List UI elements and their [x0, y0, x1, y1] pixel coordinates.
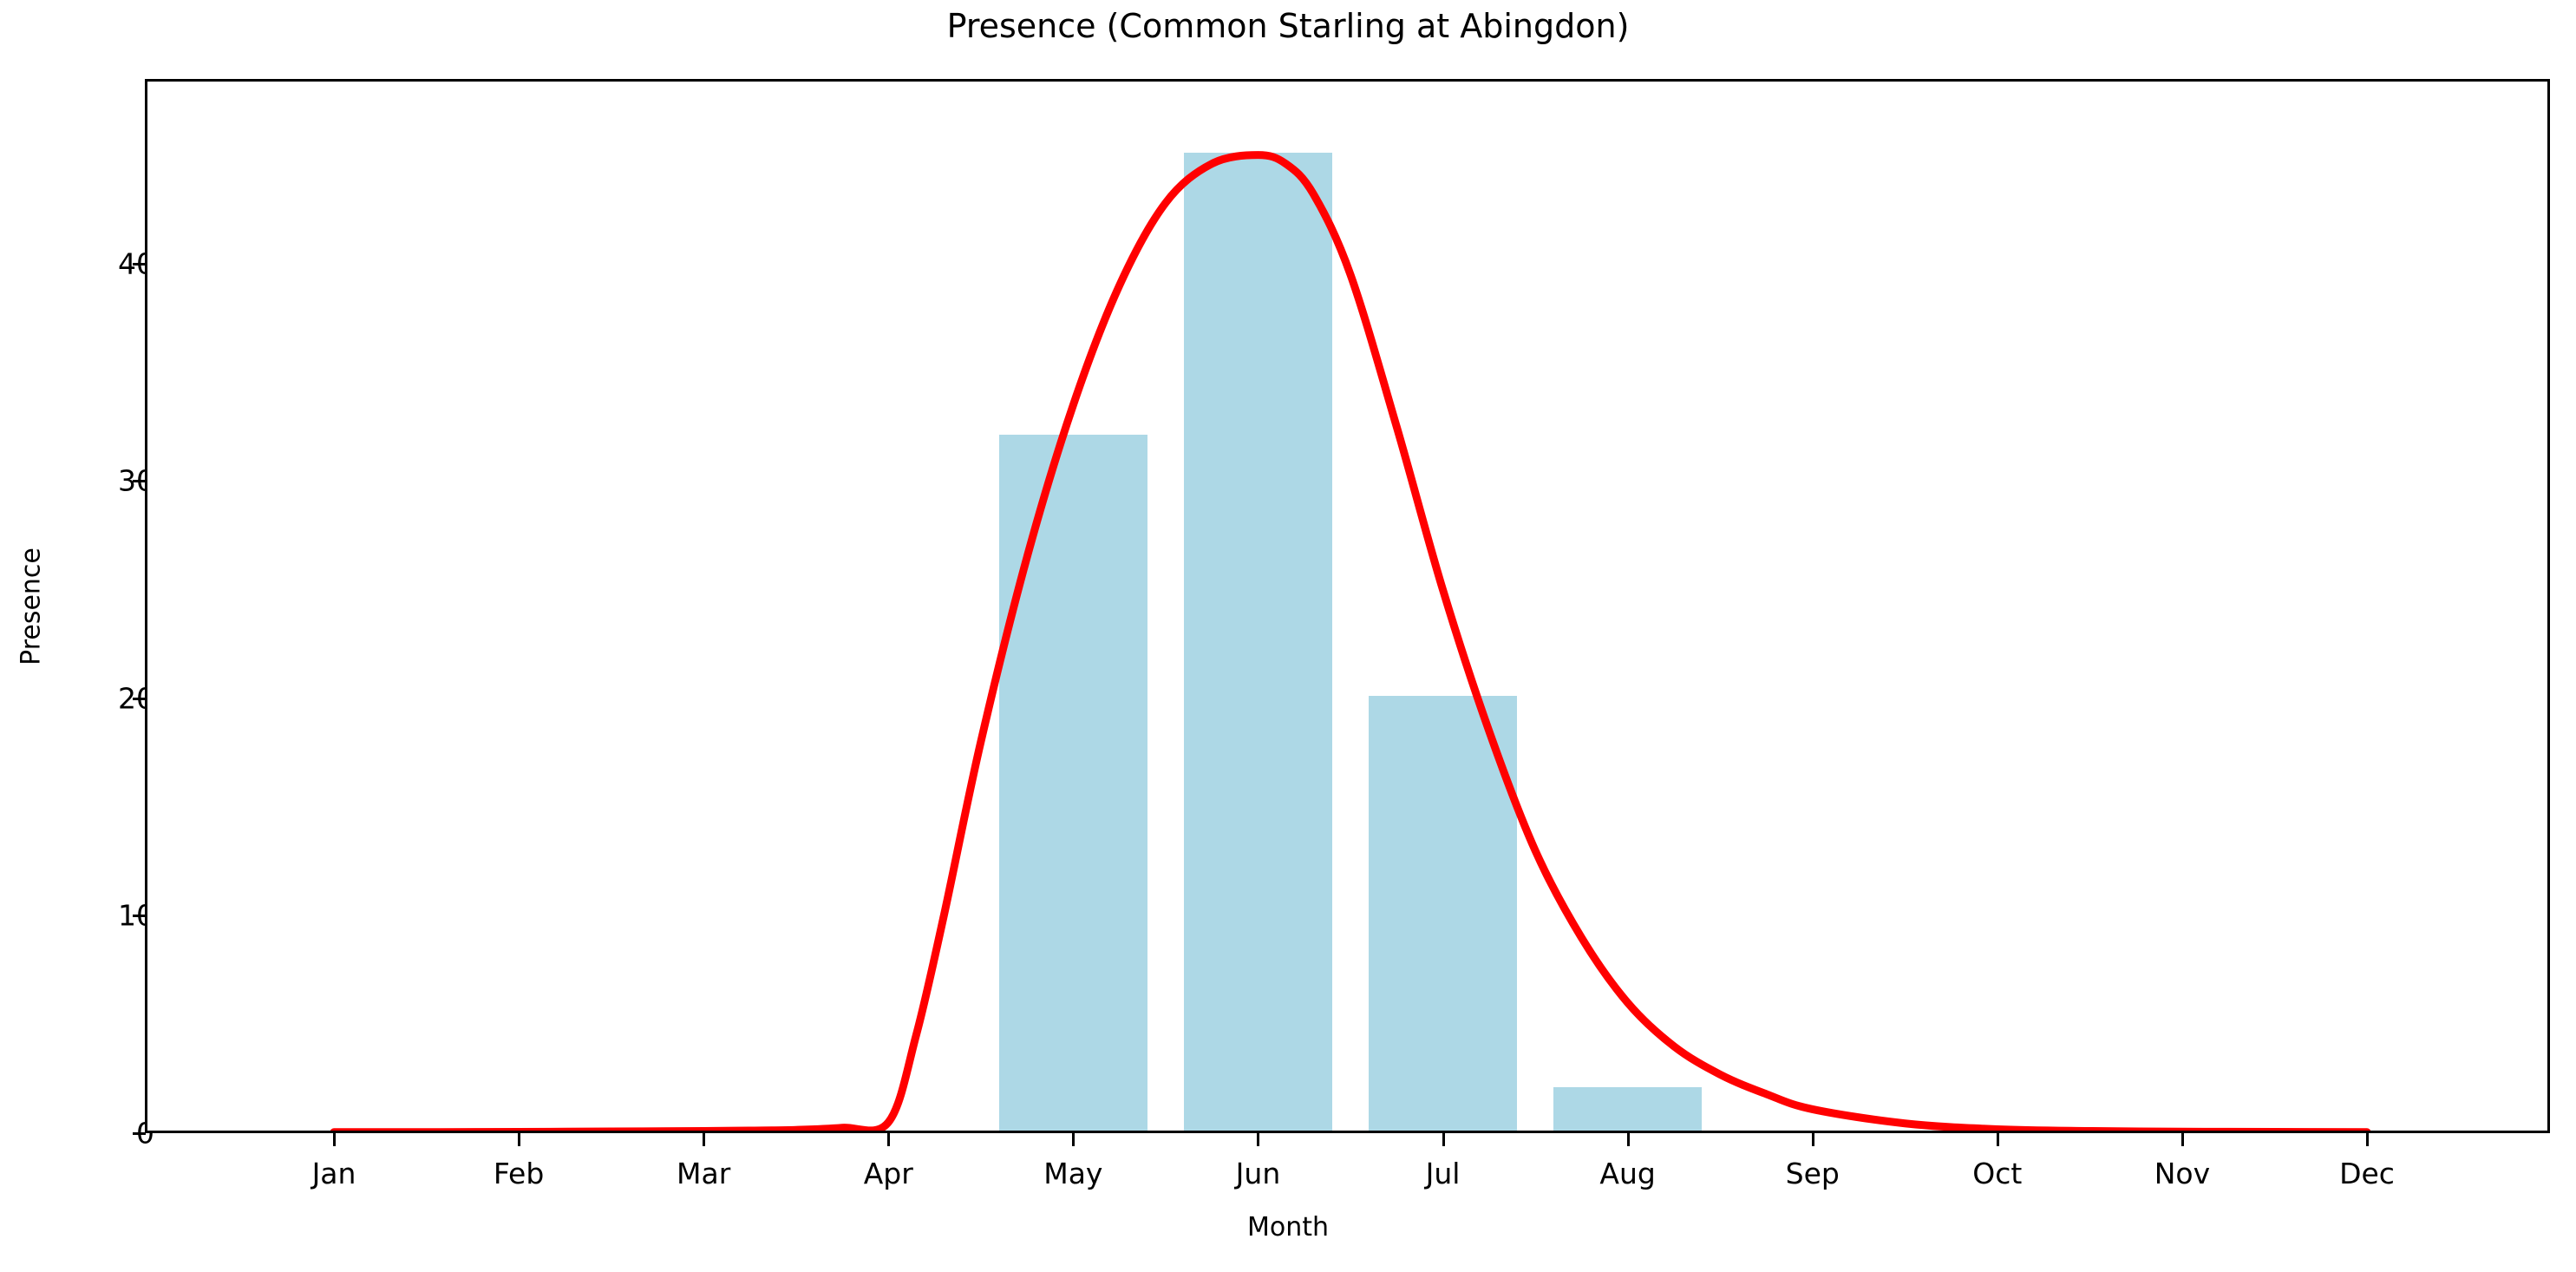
x-tick-label-apr: Apr [864, 1157, 913, 1190]
y-tick-mark-40 [133, 263, 146, 266]
x-tick-label-oct: Oct [1972, 1157, 2022, 1190]
x-tick-label-mar: Mar [677, 1157, 730, 1190]
x-tick-label-sep: Sep [1786, 1157, 1840, 1190]
x-tick-mark-dec [2366, 1133, 2369, 1146]
x-tick-label-nov: Nov [2154, 1157, 2210, 1190]
x-tick-mark-mar [703, 1133, 705, 1146]
plot-inner [147, 82, 2547, 1131]
chart-figure: Presence (Common Starling at Abingdon) P… [0, 0, 2576, 1272]
x-tick-mark-jun [1257, 1133, 1259, 1146]
x-axis-label: Month [0, 1212, 2576, 1242]
x-tick-mark-feb [518, 1133, 520, 1146]
x-tick-label-dec: Dec [2339, 1157, 2395, 1190]
y-tick-mark-10 [133, 915, 146, 917]
plot-area [145, 79, 2550, 1133]
fitted-curve-path [334, 155, 2367, 1131]
fitted-curve-svg [147, 82, 2547, 1131]
x-tick-label-jan: Jan [312, 1157, 356, 1190]
x-tick-label-jul: Jul [1426, 1157, 1461, 1190]
x-tick-mark-apr [887, 1133, 890, 1146]
y-axis-label: Presence [16, 547, 47, 666]
x-tick-label-may: May [1043, 1157, 1102, 1190]
x-tick-mark-jan [333, 1133, 336, 1146]
x-tick-mark-sep [1812, 1133, 1814, 1146]
x-tick-label-feb: Feb [494, 1157, 544, 1190]
y-tick-mark-30 [133, 480, 146, 482]
x-tick-mark-may [1072, 1133, 1075, 1146]
x-tick-label-aug: Aug [1599, 1157, 1655, 1190]
x-tick-mark-aug [1627, 1133, 1630, 1146]
curve-layer [147, 82, 2547, 1131]
x-tick-mark-jul [1442, 1133, 1445, 1146]
chart-title: Presence (Common Starling at Abingdon) [0, 7, 2576, 45]
y-tick-mark-20 [133, 698, 146, 700]
y-tick-mark-0 [133, 1132, 146, 1135]
x-tick-mark-nov [2181, 1133, 2184, 1146]
x-tick-label-jun: Jun [1236, 1157, 1281, 1190]
x-tick-mark-oct [1997, 1133, 1999, 1146]
